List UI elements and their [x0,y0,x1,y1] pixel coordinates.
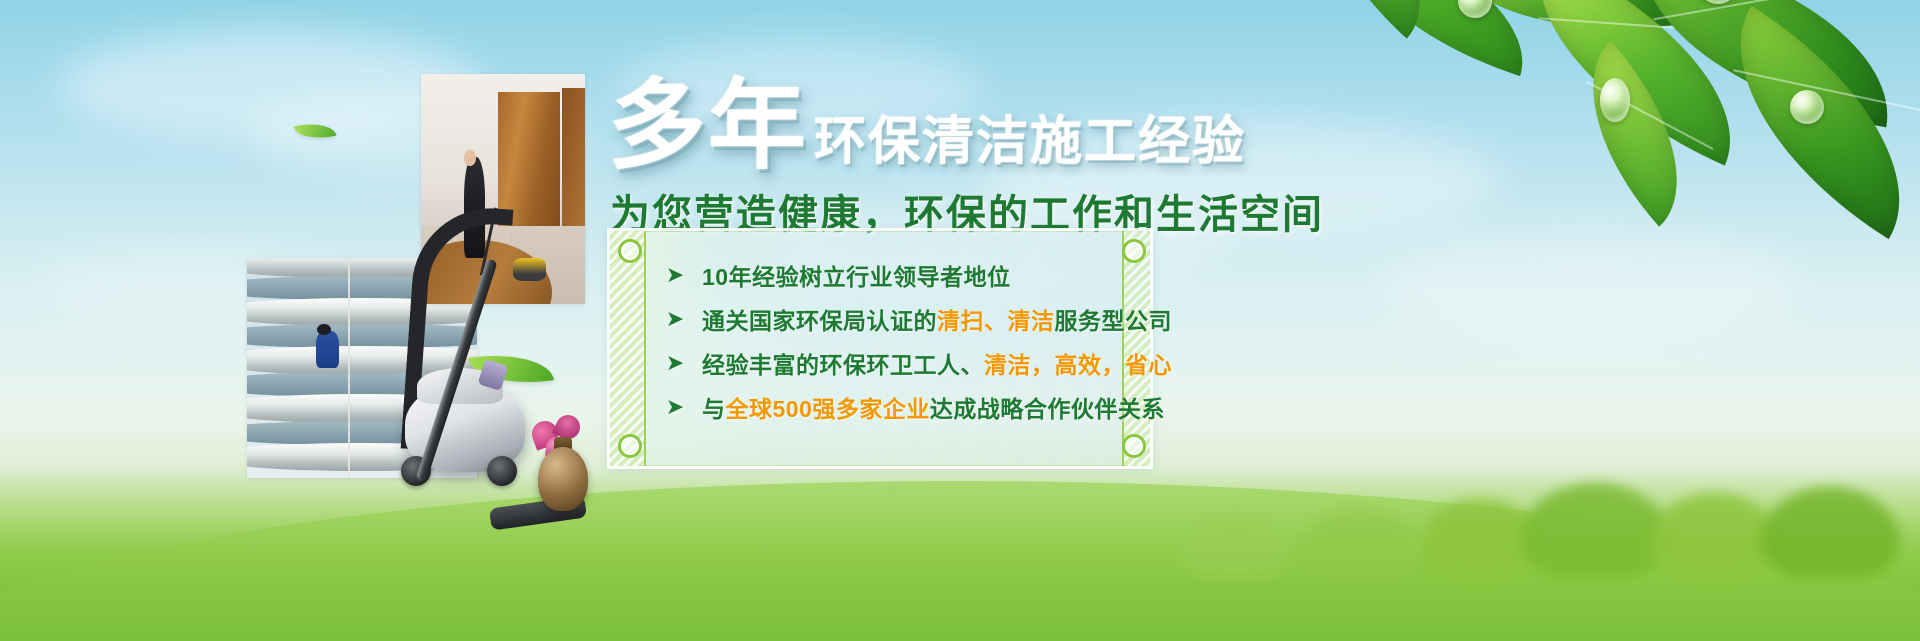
panel-left-stripe [610,231,646,466]
feature-text-segment: 达成战略合作伙伴关系 [930,396,1165,422]
water-drop-icon [1600,78,1630,122]
leaf-accent-icon [468,346,554,391]
water-drop-icon [1790,90,1824,124]
feature-list-item: ➤通关国家环保局认证的清扫、清洁服务型公司 [662,297,1130,341]
grass-ground [0,466,1920,641]
arrow-bullet-icon: ➤ [662,352,688,374]
feature-list-item-text: 通关国家环保局认证的清扫、清洁服务型公司 [702,302,1172,336]
arrow-bullet-icon: ➤ [662,308,688,330]
feature-panel: ➤10年经验树立行业领导者地位➤通关国家环保局认证的清扫、清洁服务型公司➤经验丰… [607,228,1153,469]
bush-decoration [1760,487,1900,579]
headline: 多年环保清洁施工经验 [608,76,1508,186]
corner-circle-icon [618,434,642,458]
promo-banner: 高空外墙清洗作业照片 室内清洁吸尘施工照片 多年环保清洁施工经验 [0,0,1920,641]
feature-list-item-text: 经验丰富的环保环卫工人、清洁，高效，省心 [702,346,1172,380]
feature-text-segment: 经验丰富的环保环卫工人、 [702,352,984,378]
feature-text-segment: 清扫、清洁 [937,308,1055,334]
feature-list-item: ➤与全球500强多家企业达成战略合作伙伴关系 [662,385,1130,429]
leaf-accent-icon [294,118,337,144]
photo-interior-cleaning: 室内清洁吸尘施工照片 [421,74,585,304]
feature-text-segment: 清洁，高效，省心 [984,352,1172,378]
feature-text-segment: 通关国家环保局认证的 [702,308,937,334]
corner-circle-icon [1122,434,1146,458]
arrow-bullet-icon: ➤ [662,396,688,418]
cloud-decoration [60,30,480,140]
feature-list-item: ➤经验丰富的环保环卫工人、清洁，高效，省心 [662,341,1130,385]
feature-list-item-text: 与全球500强多家企业达成战略合作伙伴关系 [702,390,1165,424]
feature-text-segment: 全球500强多家企业 [726,396,930,422]
bush-decoration [1520,483,1670,579]
feature-list-item: ➤10年经验树立行业领导者地位 [662,253,1130,297]
feature-text-segment: 10年经验树立行业领导者地位 [702,264,1011,290]
feature-text-segment: 服务型公司 [1055,308,1173,334]
feature-text-segment: 与 [702,396,726,422]
feature-list-item-text: 10年经验树立行业领导者地位 [702,258,1011,292]
arrow-bullet-icon: ➤ [662,264,688,286]
feature-list: ➤10年经验树立行业领导者地位➤通关国家环保局认证的清扫、清洁服务型公司➤经验丰… [662,253,1130,429]
water-drop-icon [1458,0,1492,18]
headline-secondary: 环保清洁施工经验 [814,116,1246,174]
vase-ornament [530,415,596,511]
cloud-decoration [1380,230,1800,340]
water-drop-icon [1698,0,1738,4]
corner-circle-icon [618,239,642,263]
headline-primary: 多年 [608,76,808,174]
